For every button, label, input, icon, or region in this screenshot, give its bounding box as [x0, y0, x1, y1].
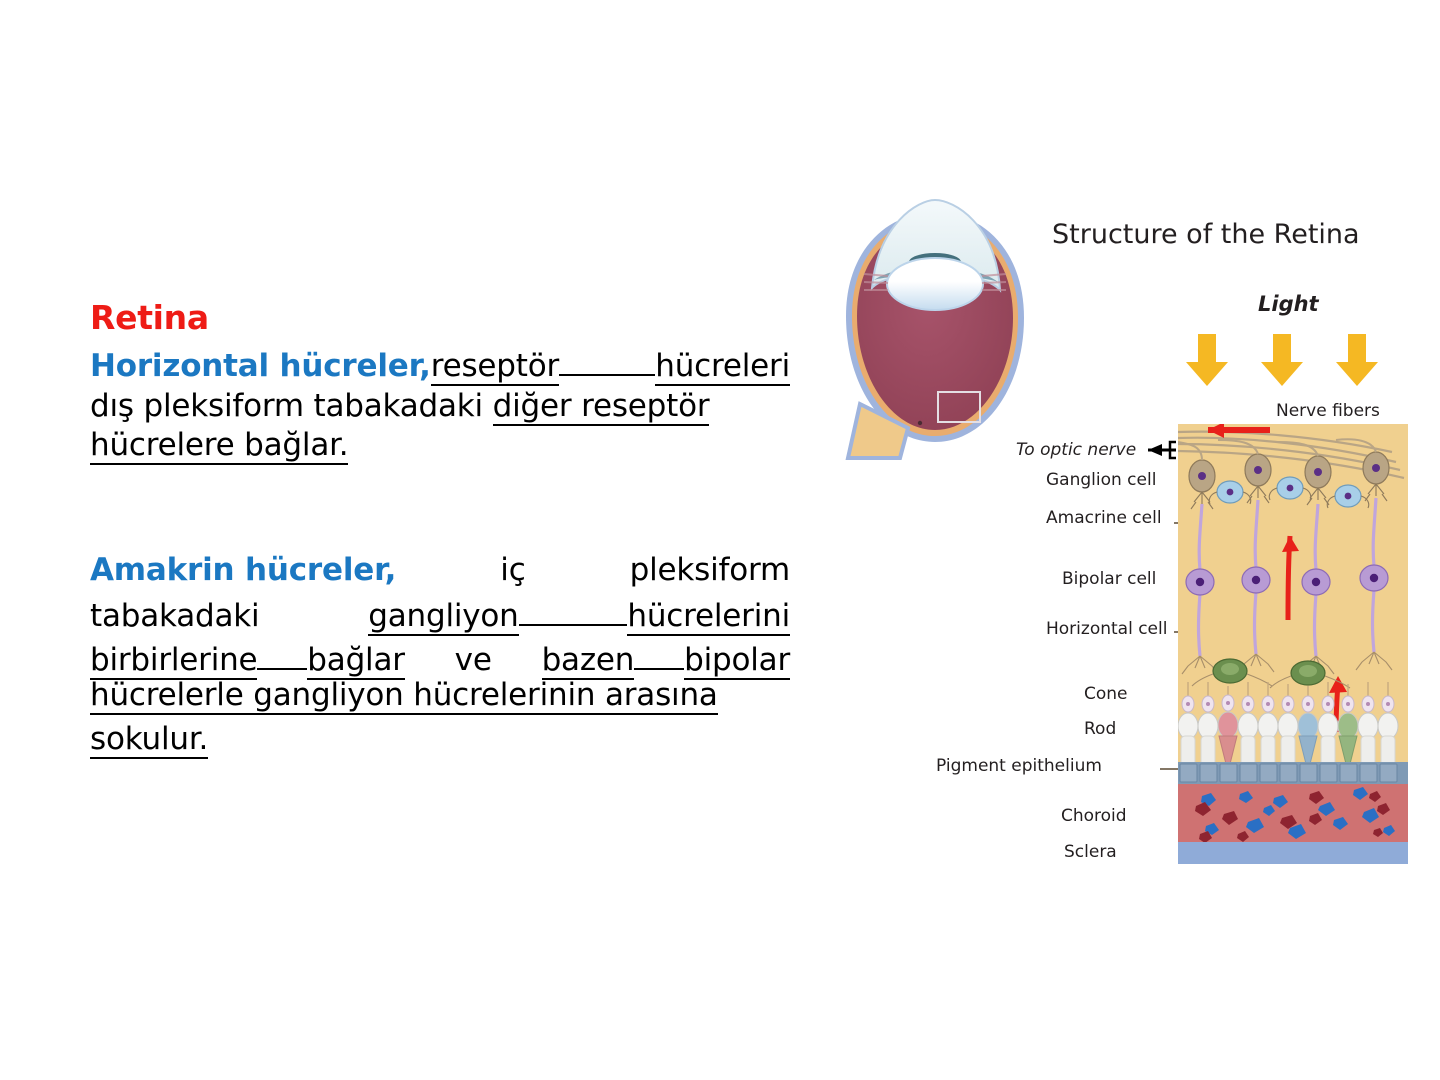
plain-run: dış pleksiform tabakadaki [90, 384, 493, 428]
underlined-run: bipolar [684, 643, 790, 680]
text-line: Amakrin hücreler, iç pleksiform [90, 546, 790, 590]
plain-run: pleksiform [630, 548, 790, 592]
text-line: hücrelere bağlar. [90, 428, 790, 472]
underlined-run: sokulur. [90, 722, 208, 759]
light-arrow-icon [1186, 334, 1228, 386]
plain-run: iç [500, 548, 525, 592]
light-arrow-icon [1336, 334, 1378, 386]
space-gap [259, 592, 368, 626]
term-horizontal-hucreler: Horizontal hücreler, [90, 344, 431, 388]
to-optic-nerve-arrow-icon [1148, 442, 1176, 458]
space-gap [405, 636, 455, 670]
underlined-run: birbirlerine [90, 643, 257, 680]
sclera-layer [1178, 842, 1408, 864]
eye-cross-section [830, 196, 1040, 486]
fovea-dot [918, 421, 922, 425]
light-label: Light [1258, 292, 1319, 316]
space-gap [396, 546, 500, 580]
light-arrows-svg [1186, 334, 1396, 388]
plain-run: tabakadaki [90, 594, 259, 638]
underline-gap [257, 634, 307, 670]
choroid-layer [1178, 784, 1408, 843]
underlined-run: diğer reseptör [493, 389, 710, 426]
text-line: dış pleksiform tabakadaki diğer reseptör [90, 384, 790, 428]
plain-run: ve [455, 638, 492, 682]
text-line: birbirlerine bağlar ve bazen bipolar [90, 634, 790, 678]
text-line: hücrelerle gangliyon hücrelerinin arasın… [90, 678, 790, 722]
lens [887, 258, 983, 310]
lecture-text-block: Retina Horizontal hücreler, reseptör hüc… [90, 296, 790, 766]
retina-figure-title: Structure of the Retina [1052, 219, 1360, 250]
photoreceptor-inner-segments [1178, 712, 1398, 739]
paragraph-horizontal-cells: Horizontal hücreler, reseptör hücreleri … [90, 340, 790, 472]
space-gap [526, 546, 630, 580]
paragraph-amacrine-cells: Amakrin hücreler, iç pleksiform tabakada… [90, 546, 790, 766]
light-arrow-icon [1261, 334, 1303, 386]
underlined-run: bazen [542, 643, 635, 680]
text-line: sokulur. [90, 722, 790, 766]
pigment-epithelium-layer [1178, 762, 1408, 784]
underlined-run: hücrelerini [627, 599, 790, 636]
eye-diagram-svg [830, 196, 1040, 486]
underlined-run: hücrelerle gangliyon hücrelerinin arasın… [90, 678, 718, 715]
light-arrows [1186, 334, 1396, 388]
text-line: Horizontal hücreler, reseptör hücreleri [90, 340, 790, 384]
term-amakrin-hucreler: Amakrin hücreler, [90, 548, 396, 592]
underline-gap [559, 340, 655, 376]
retina-layer-panel [1178, 424, 1408, 864]
underlined-run: bağlar [307, 643, 405, 680]
underlined-run: reseptör [431, 349, 559, 386]
underlined-run: hücreleri [655, 349, 790, 386]
underline-gap [634, 634, 684, 670]
label-pigment-epithelium: Pigment epithelium [936, 756, 1102, 776]
underlined-run: hücrelere bağlar. [90, 428, 348, 465]
underline-gap [519, 590, 628, 626]
underlined-run: gangliyon [368, 599, 518, 636]
retina-layers-svg [1178, 424, 1408, 864]
text-line: tabakadaki gangliyon hücrelerini [90, 590, 790, 634]
page-title: Retina [90, 296, 790, 340]
space-gap [492, 636, 542, 670]
